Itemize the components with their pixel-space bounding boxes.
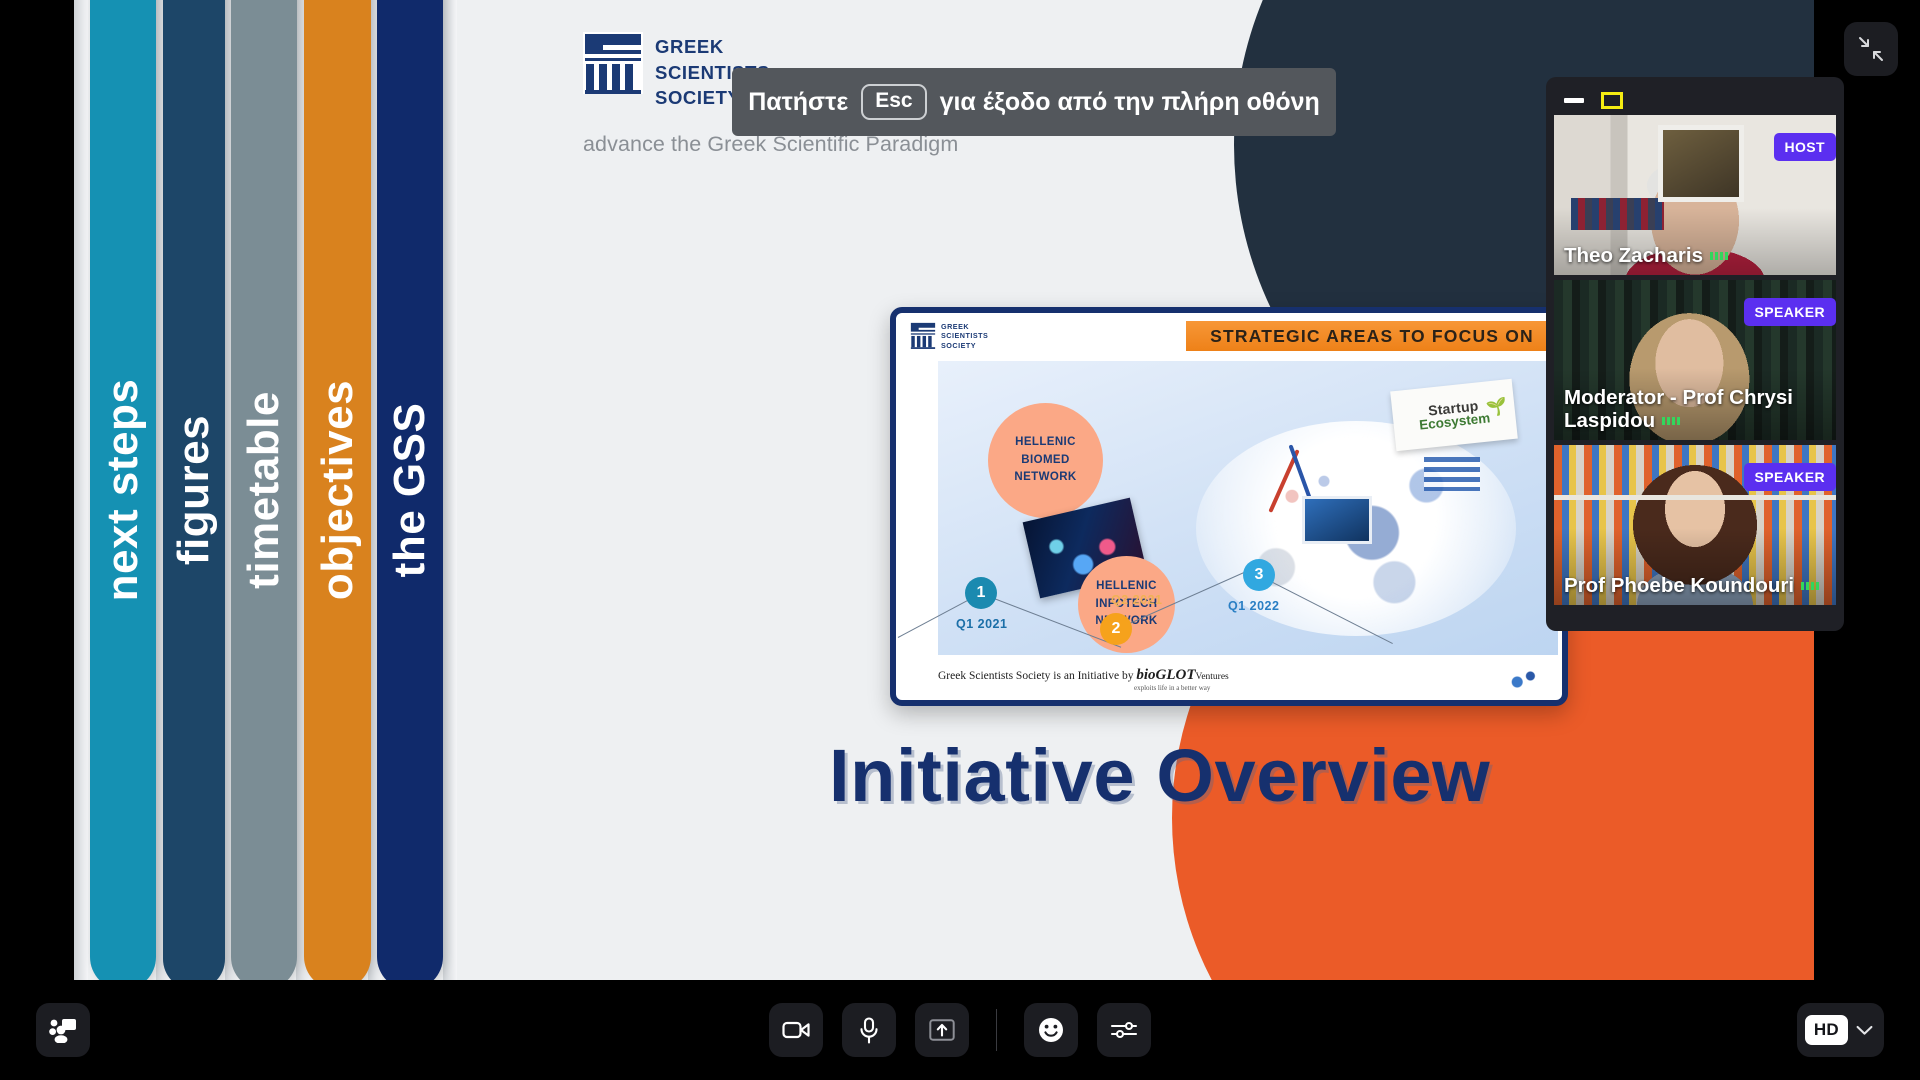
toast-suffix: για έξοδο από την πλήρη οθόνη <box>940 88 1320 117</box>
hd-badge: HD <box>1805 1015 1848 1045</box>
slide-tab-the-gss: the GSS <box>377 0 443 980</box>
restore-window-icon[interactable] <box>1601 92 1623 109</box>
inner-slide-logo: GREEK SCIENTISTS SOCIETY <box>910 322 988 350</box>
brand-line-1: GREEK <box>655 35 770 59</box>
participant-panel: HOST Theo Zacharis SPEAKER Moderator - P… <box>1546 77 1844 631</box>
greek-temple-icon <box>583 32 643 94</box>
role-badge: SPEAKER <box>1744 463 1836 491</box>
panel-titlebar <box>1554 85 1836 115</box>
exit-fullscreen-icon <box>1858 36 1884 62</box>
meeting-toolbar: HD <box>0 980 1920 1080</box>
inner-slide-preview: GREEK SCIENTISTS SOCIETY STRATEGIC AREAS… <box>890 307 1568 706</box>
bubble-line-3: NETWORK <box>1014 469 1076 487</box>
meeting-fullscreen-window: next steps figures timetable objectives … <box>0 0 1920 1080</box>
slide-tab-figures: figures <box>163 0 225 980</box>
timeline-label-2: Q2 2021 <box>1111 593 1162 607</box>
participant-name: Theo Zacharis <box>1564 245 1826 268</box>
timeline-node-2: 2 <box>1100 613 1132 645</box>
slide-section-tabs: next steps figures timetable objectives … <box>74 0 474 980</box>
slide-tab-objectives: objectives <box>304 0 371 980</box>
settings-button[interactable] <box>1097 1003 1151 1057</box>
sliders-icon <box>1110 1019 1138 1041</box>
slide-tab-label: next steps <box>98 379 148 602</box>
credit-prefix: Greek Scientists Society is an Initiativ… <box>938 670 1133 682</box>
chevron-down-icon <box>1856 1025 1873 1036</box>
minimize-icon[interactable] <box>1564 98 1584 103</box>
credit-brand-suffix: Ventures <box>1196 672 1229 682</box>
greek-temple-icon <box>910 322 936 349</box>
participant-name: Moderator - Prof Chrysi Laspidou <box>1564 387 1826 433</box>
role-badge: SPEAKER <box>1744 298 1836 326</box>
mic-level-icon <box>1801 582 1819 590</box>
inner-slide-banner: STRATEGIC AREAS TO FOCUS ON <box>1186 321 1558 351</box>
microphone-icon <box>859 1017 879 1044</box>
brand-line-1: GREEK <box>941 322 988 331</box>
sprout-icon: 🌱 <box>1485 397 1508 417</box>
slide-tab-label: objectives <box>313 380 363 600</box>
inner-slide-corner-badge <box>1504 664 1548 694</box>
slide-tab-label: the GSS <box>385 403 435 578</box>
inner-slide-credit: Greek Scientists Society is an Initiativ… <box>938 667 1229 692</box>
fullscreen-hint-toast: Πατήστε Esc για έξοδο από την πλήρη οθόν… <box>732 68 1336 136</box>
mic-level-icon <box>1662 417 1680 425</box>
exit-fullscreen-button[interactable] <box>1844 22 1898 76</box>
toolbar-center-controls <box>769 1003 1151 1057</box>
mic-level-icon <box>1710 252 1728 260</box>
toolbar-divider <box>996 1009 997 1051</box>
bubble-line-2: BIOMED <box>1021 452 1069 470</box>
slide-tab-timetable: timetable <box>231 0 297 980</box>
slide-title: Initiative Overview <box>829 733 1490 818</box>
timeline-label-1: Q1 2021 <box>956 617 1007 631</box>
layout-button[interactable] <box>36 1003 90 1057</box>
share-screen-button[interactable] <box>915 1003 969 1057</box>
reactions-button[interactable] <box>1024 1003 1078 1057</box>
slide-tab-label: figures <box>169 415 219 565</box>
participant-tile[interactable]: SPEAKER Prof Phoebe Koundouri <box>1554 445 1836 605</box>
timeline-node-3: 3 <box>1243 559 1275 591</box>
participant-name: Prof Phoebe Koundouri <box>1564 575 1826 598</box>
toast-prefix: Πατήστε <box>748 88 848 117</box>
share-screen-icon <box>929 1019 955 1041</box>
camera-button[interactable] <box>769 1003 823 1057</box>
timeline-node-1: 1 <box>965 577 997 609</box>
participant-tile[interactable]: HOST Theo Zacharis <box>1554 115 1836 275</box>
role-badge: HOST <box>1774 133 1837 161</box>
brand-line-3: SOCIETY <box>941 341 988 350</box>
timeline-label-3: Q1 2022 <box>1228 599 1279 613</box>
slide-tab-label: timetable <box>239 391 289 589</box>
camera-icon <box>782 1019 810 1041</box>
smiley-icon <box>1037 1016 1065 1044</box>
participant-tiles: HOST Theo Zacharis SPEAKER Moderator - P… <box>1554 115 1836 605</box>
bubble-line-1: HELLENIC <box>1015 434 1076 452</box>
inner-slide-canvas: Startup Ecosystem 🌱 HELLENIC BIOMED NETW… <box>938 361 1558 655</box>
layout-people-icon <box>49 1017 77 1043</box>
esc-key-chip: Esc <box>861 84 926 119</box>
startup-ecosystem-card: Startup Ecosystem 🌱 <box>1390 379 1518 451</box>
bubble-hellenic-biomed-network: HELLENIC BIOMED NETWORK <box>988 403 1103 518</box>
video-quality-selector[interactable]: HD <box>1797 1003 1884 1057</box>
credit-slogan: exploits life in a better way <box>1134 684 1229 692</box>
brand-line-2: SCIENTISTS <box>941 331 988 340</box>
participant-tile[interactable]: SPEAKER Moderator - Prof Chrysi Laspidou <box>1554 280 1836 440</box>
slide-tab-next-steps: next steps <box>90 0 156 980</box>
microphone-button[interactable] <box>842 1003 896 1057</box>
credit-brand: bioGLOT <box>1136 667 1195 683</box>
